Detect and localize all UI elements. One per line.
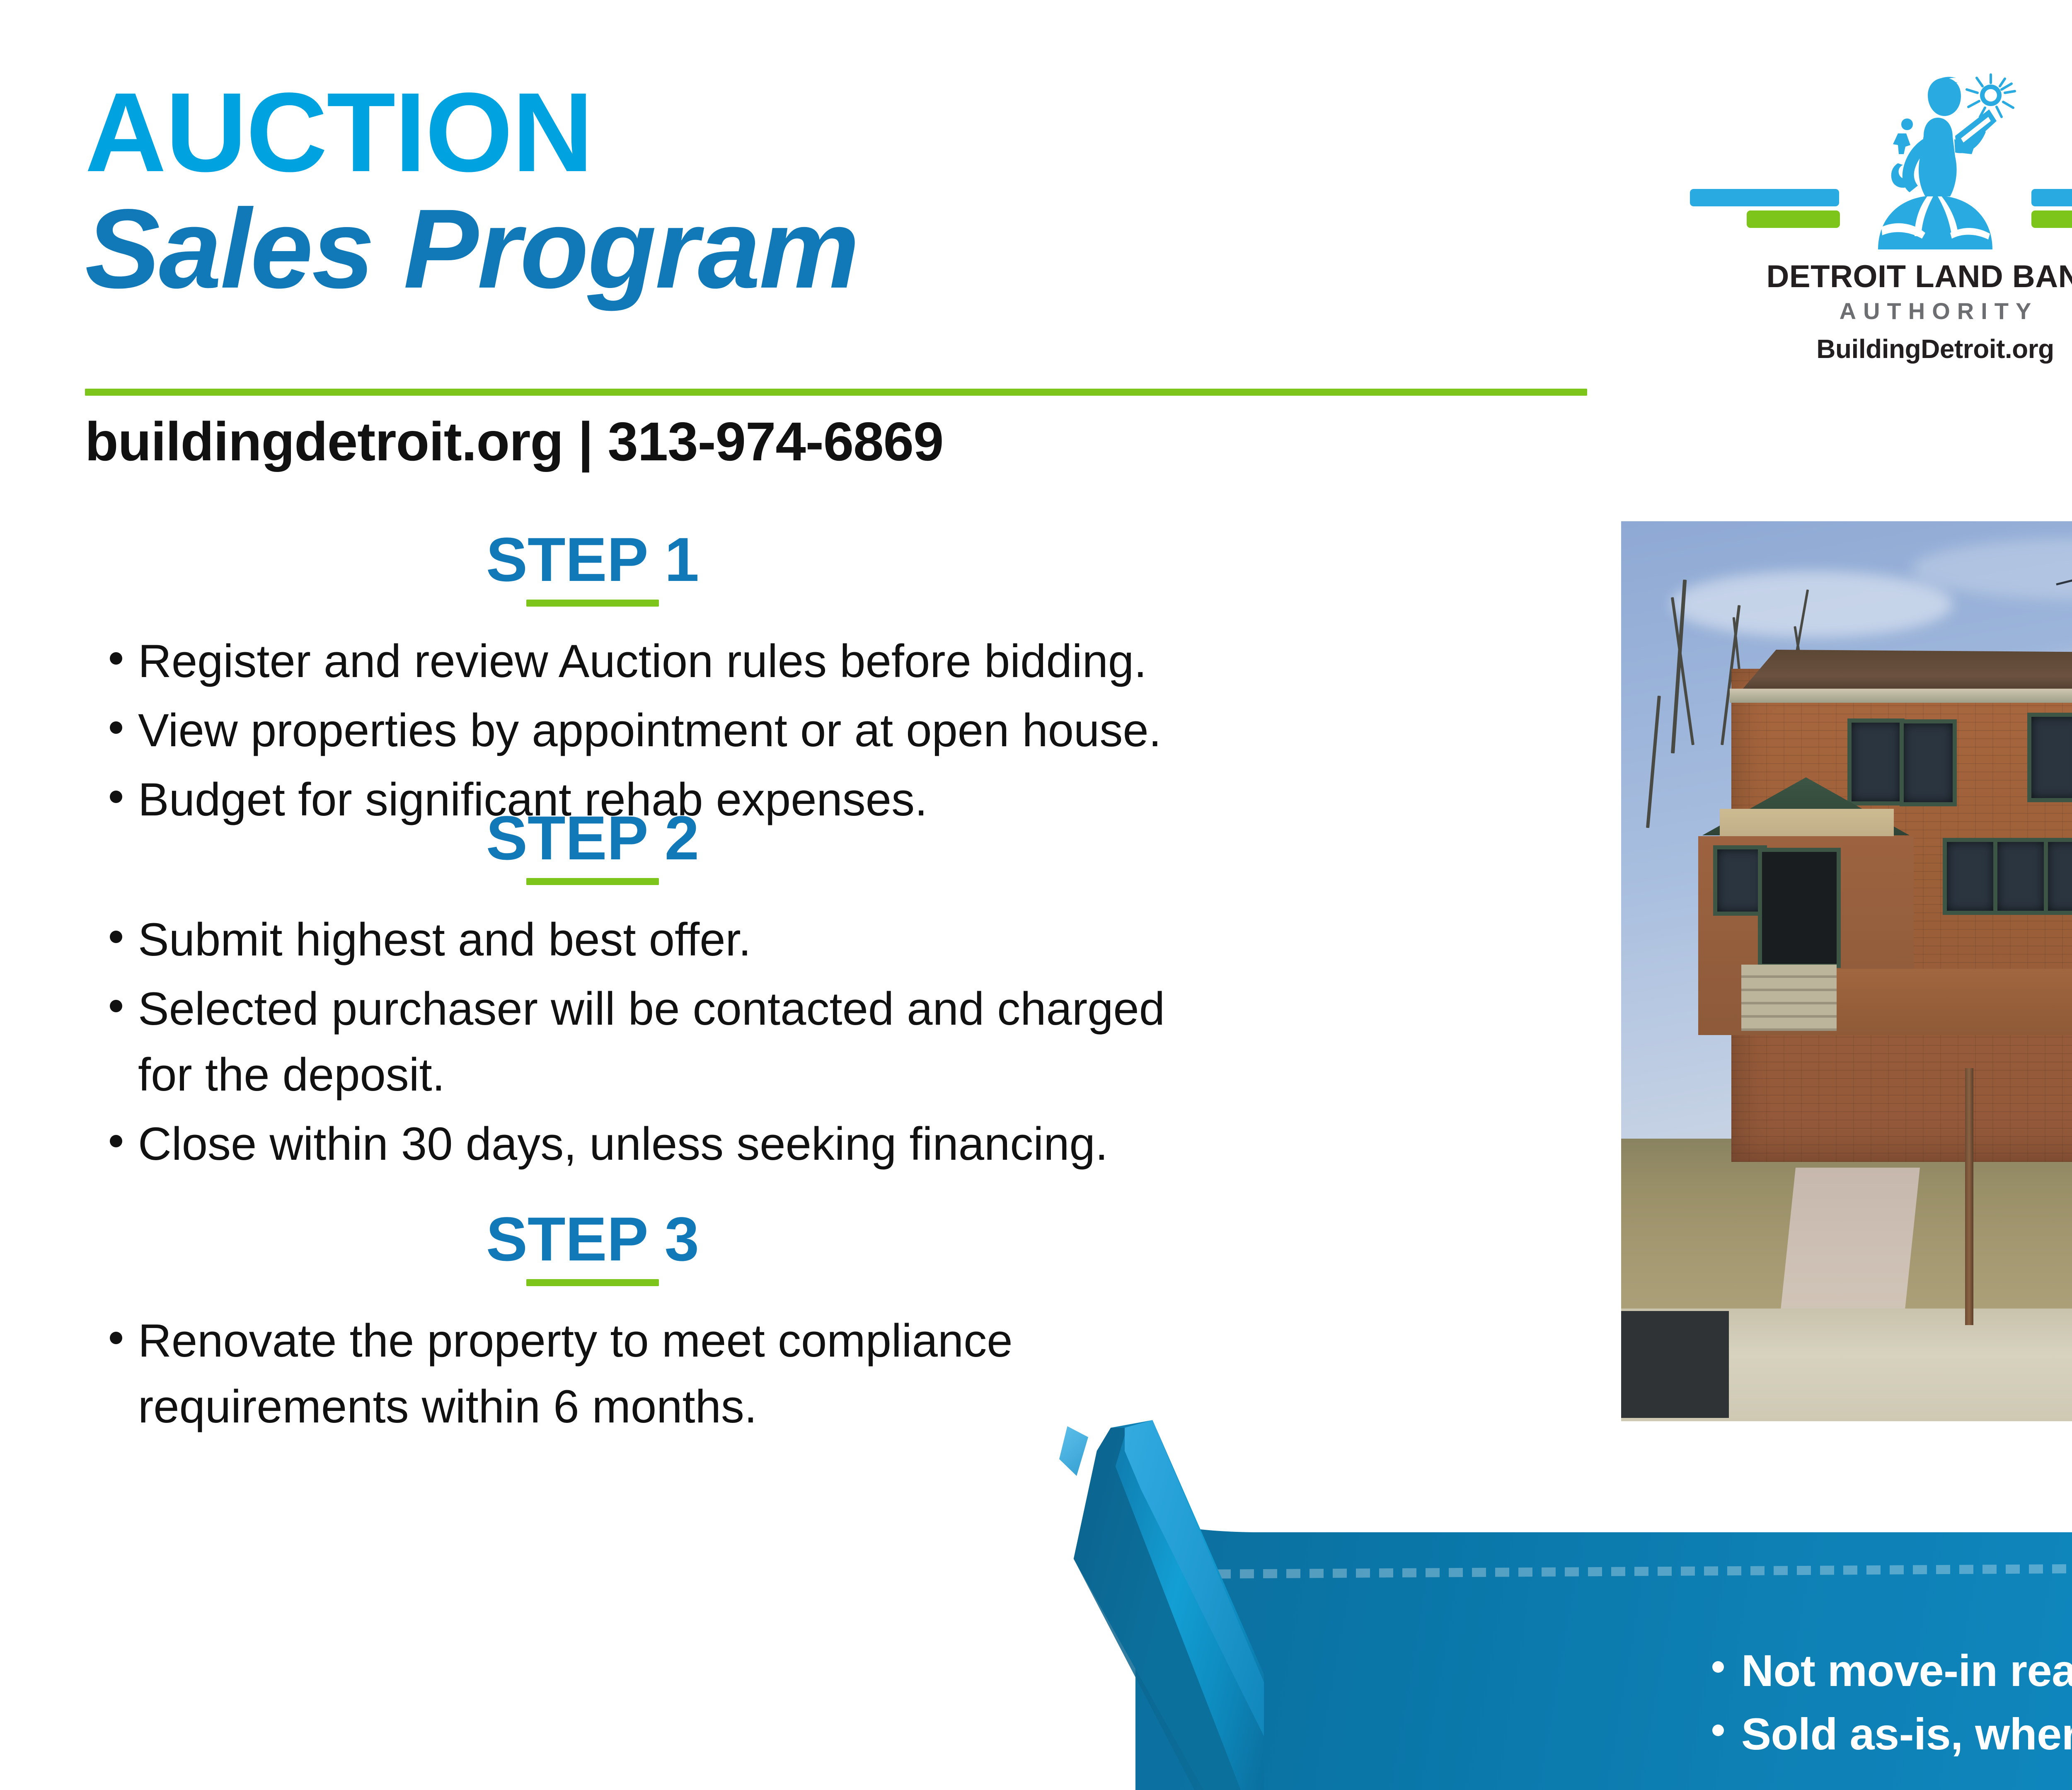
photo-metal-post (1965, 1068, 1973, 1325)
bullet-dot-icon (110, 1332, 122, 1344)
step-1-underline (526, 600, 659, 607)
step-2-heading-wrap: STEP 2 (85, 807, 1100, 885)
step-3-heading-wrap: STEP 3 (85, 1208, 1100, 1286)
ribbon-curl-notch (1059, 1426, 1088, 1476)
step-3-underline (526, 1279, 659, 1286)
property-photo (1621, 521, 2072, 1421)
photo-window (2044, 838, 2072, 915)
photo-lower-brick-band (1828, 969, 2072, 1035)
step-1-bullets: Register and review Auction rules before… (85, 628, 1535, 832)
photo-redaction-block (1621, 1311, 1729, 1418)
bullet-dot-icon (110, 721, 122, 734)
list-item-text: Register and review Auction rules before… (138, 635, 1147, 687)
step-2-heading: STEP 2 (85, 807, 1100, 869)
list-item: View properties by appointment or at ope… (85, 697, 1535, 763)
list-item: Selected purchaser will be contacted and… (85, 976, 1199, 1108)
detroit-land-bank-logo: DETROIT LAND BANK AUTHORITY BuildingDetr… (1674, 83, 2072, 364)
photo-eave (1730, 689, 2072, 703)
bullet-dot-icon (110, 1000, 122, 1012)
list-item-text: Selected purchaser will be contacted and… (138, 983, 1165, 1101)
bullet-dot-icon (110, 931, 122, 943)
step-1-heading: STEP 1 (85, 528, 1100, 590)
photo-window (2027, 713, 2072, 802)
logo-bars (1674, 189, 2072, 230)
page-title-sales-program: Sales Program (85, 191, 1593, 306)
list-item: Submit highest and best offer. (85, 907, 1535, 972)
logo-bar-left-green (1747, 210, 1840, 228)
bullet-dot-icon (1712, 1725, 1724, 1736)
step-2-bullets: Submit highest and best offer. Selected … (85, 907, 1535, 1177)
photo-window (1847, 718, 1905, 805)
step-2-block: STEP 2 Submit highest and best offer. Se… (85, 807, 1535, 1180)
page-title-auction: AUCTION (85, 79, 1593, 186)
step-1-block: STEP 1 Register and review Auction rules… (85, 528, 1535, 836)
title-block: AUCTION Sales Program (85, 79, 1593, 307)
photo-front-door (1758, 848, 1841, 968)
contact-line[interactable]: buildingdetroit.org | 313-974-6869 (85, 410, 943, 473)
list-item-text: View properties by appointment or at ope… (138, 704, 1162, 756)
list-item-text: Sold as-is, where-is (1741, 1709, 2072, 1759)
photo-front-steps (1741, 965, 1837, 1031)
list-item: Close within 30 days, unless seeking fin… (85, 1111, 1535, 1177)
list-item-text: Submit highest and best offer. (138, 914, 751, 965)
list-item: Sold as-is, where-is (1703, 1702, 2072, 1766)
photo-cloud (1671, 571, 1953, 637)
bullet-dot-icon (1712, 1661, 1724, 1673)
step-2-underline (526, 878, 659, 885)
logo-bar-right-green (2031, 210, 2072, 228)
photo-window (1993, 838, 2048, 915)
auction-sales-program-flyer: AUCTION Sales Program buildingdetroit.or… (0, 0, 2072, 1790)
logo-mark (1674, 83, 2072, 257)
photo-window (1900, 719, 1957, 806)
logo-url[interactable]: BuildingDetroit.org (1674, 334, 2072, 364)
ribbon-top-curve (1135, 1507, 2072, 1532)
list-item-text: Close within 30 days, unless seeking fin… (138, 1118, 1108, 1170)
photo-roof (1719, 650, 2072, 694)
photo-window (1943, 838, 1997, 915)
list-item: Not move-in ready (1703, 1639, 2072, 1702)
bullet-dot-icon (110, 791, 122, 803)
footer-bullets: Not move-in ready Sold as-is, where-is (1703, 1639, 2072, 1766)
logo-subtitle: AUTHORITY (1674, 298, 2072, 324)
list-item: Register and review Auction rules before… (85, 628, 1535, 694)
logo-bar-right-blue (2031, 189, 2072, 206)
step-3-heading: STEP 3 (85, 1208, 1100, 1270)
title-divider-rule (85, 389, 1587, 396)
bullet-dot-icon (110, 1135, 122, 1147)
bullet-dot-icon (110, 652, 122, 665)
logo-name: DETROIT LAND BANK (1674, 260, 2072, 293)
step-1-heading-wrap: STEP 1 (85, 528, 1100, 607)
logo-bar-left-blue (1690, 189, 1839, 206)
list-item-text: Not move-in ready (1741, 1645, 2072, 1696)
